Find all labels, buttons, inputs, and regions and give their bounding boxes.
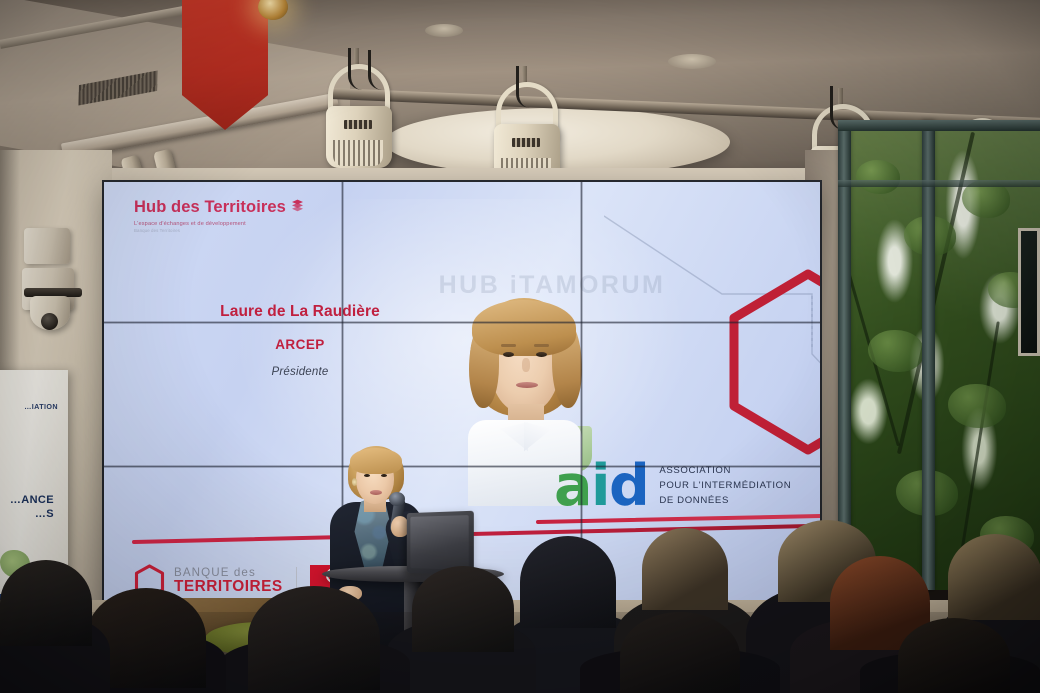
portrait-nose bbox=[522, 358, 530, 372]
tablet-screen bbox=[410, 515, 468, 570]
bdt-wordmark: BANQUE des TERRITOIRES bbox=[174, 567, 283, 596]
stage-light-cable-2 bbox=[368, 50, 382, 90]
audience-head-6 bbox=[412, 566, 514, 652]
aid-association-logo: aid ASSOCIATION POUR L'INTERMÉDIATION DE… bbox=[554, 464, 791, 508]
conference-photo-scene: Hub des Territoires L'espace d'échanges … bbox=[0, 0, 1040, 693]
tree-leaf bbox=[856, 160, 900, 194]
window-mullion-center bbox=[922, 120, 935, 590]
microphone-head bbox=[389, 492, 405, 506]
hub-logo-subtitle: L'espace d'échanges et de développement bbox=[134, 220, 364, 228]
slide-speaker-role: Présidente bbox=[200, 366, 400, 378]
aid-tagline-line2: POUR L'INTERMÉDIATION bbox=[659, 479, 791, 494]
hub-logo-subtitle-secondary: Banque des Territoires bbox=[134, 228, 364, 233]
portrait-eyebrow-right bbox=[534, 344, 549, 347]
portrait-eyebrow-left bbox=[501, 344, 516, 347]
stage-light-indicator-leds bbox=[344, 120, 372, 129]
aid-logo-tagline: ASSOCIATION POUR L'INTERMÉDIATION DE DON… bbox=[659, 464, 791, 508]
presenter-earring bbox=[352, 478, 357, 486]
slide-speaker-name: Laure de La Raudière bbox=[200, 303, 400, 321]
slide-speaker-organization: ARCEP bbox=[200, 337, 400, 352]
presenter-eye-left bbox=[364, 474, 370, 477]
red-hexagon-outline-icon bbox=[712, 262, 820, 462]
presenter-hair-fringe bbox=[350, 448, 402, 474]
hub-des-territoires-logo: Hub des Territoires L'espace d'échanges … bbox=[134, 199, 364, 233]
tree-leaf bbox=[868, 330, 924, 372]
audience-head-2 bbox=[642, 528, 728, 610]
portrait-hair-fringe bbox=[472, 300, 576, 356]
stage-light-vent bbox=[333, 140, 383, 166]
stage-light-cable-1 bbox=[348, 48, 364, 90]
presenter-eye-right bbox=[381, 474, 387, 477]
camera-lens-icon bbox=[41, 313, 58, 330]
window-sill-transom bbox=[838, 180, 1040, 187]
audience-head-11 bbox=[898, 618, 1010, 693]
audience-head-7 bbox=[248, 586, 380, 690]
rollup-text-fragment-2: …ANCE …S bbox=[0, 494, 54, 522]
glass-curtain-wall-foliage-view bbox=[838, 120, 1040, 590]
stage-light-indicator-leds bbox=[512, 138, 540, 147]
videowall-seam-horizontal-1 bbox=[104, 321, 820, 324]
stage-light-body bbox=[326, 106, 392, 168]
aid-wordmark: aid bbox=[554, 464, 648, 508]
stacked-chevrons-mark-icon bbox=[291, 199, 304, 213]
audience-head-5 bbox=[948, 534, 1040, 620]
aid-tagline-line3: DE DONNÉES bbox=[659, 494, 791, 509]
wall-mounted-speaker bbox=[24, 228, 70, 264]
videowall-seam-horizontal-2 bbox=[104, 465, 820, 468]
window-dark-vent-panel bbox=[1018, 228, 1040, 356]
aid-letter-a: a bbox=[554, 453, 591, 519]
hub-logo-title: Hub des Territoires bbox=[134, 199, 286, 216]
portrait-eye-right bbox=[536, 352, 547, 357]
audience-head-9 bbox=[0, 560, 92, 646]
tree-leaf bbox=[948, 384, 1006, 428]
window-head-transom bbox=[838, 120, 1040, 131]
portrait-mouth bbox=[516, 382, 538, 388]
bdt-line-2: TERRITOIRES bbox=[174, 579, 283, 596]
presenter-mouth bbox=[370, 490, 382, 495]
stage-light-cable-1 bbox=[516, 66, 532, 108]
ceiling-speaker-small-1 bbox=[425, 24, 463, 37]
aid-letter-i: i bbox=[591, 453, 609, 519]
ceiling-speaker-small-2 bbox=[668, 54, 716, 69]
aid-letter-d: d bbox=[609, 453, 648, 519]
rollup-text-fragment-1: …IATION bbox=[0, 402, 58, 411]
window-mullion-left bbox=[838, 120, 851, 590]
portrait-eye-left bbox=[503, 352, 514, 357]
audience-head-10 bbox=[620, 612, 740, 693]
audience-head-1 bbox=[520, 536, 616, 628]
